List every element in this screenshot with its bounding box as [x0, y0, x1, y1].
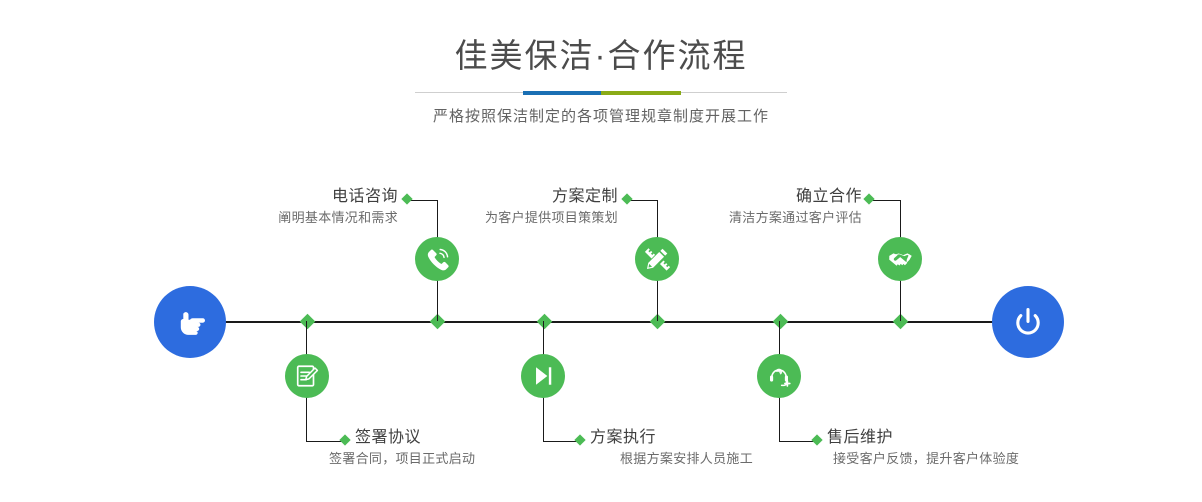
page-title: 佳美保洁·合作流程: [0, 34, 1202, 78]
page-header: 佳美保洁·合作流程 严格按照保洁制定的各项管理规章制度开展工作: [0, 34, 1202, 128]
divider-segment-blue: [523, 91, 601, 95]
document-sign-icon: [294, 363, 320, 389]
step-6-title: 售后维护: [827, 427, 1127, 449]
step-5-icon-badge[interactable]: [878, 237, 922, 281]
connector-step-4-horizontal: [543, 441, 579, 442]
pencil-ruler-icon: [644, 246, 670, 272]
title-divider: [415, 88, 787, 98]
pointing-hand-icon: [170, 302, 210, 342]
timeline-end-badge: [992, 286, 1064, 358]
step-3-desc: 为客户提供项目策策划: [350, 208, 618, 228]
divider-segment-green: [601, 91, 681, 95]
phone-call-icon: [424, 246, 451, 273]
step-5-title: 确立合作: [600, 186, 862, 208]
step-5-label: 确立合作 清洁方案通过客户评估: [600, 186, 862, 228]
step-6-desc: 接受客户反馈，提升客户体验度: [833, 449, 1127, 469]
flowchart-page: 佳美保洁·合作流程 严格按照保洁制定的各项管理规章制度开展工作: [0, 0, 1202, 502]
connector-step-2-horizontal: [306, 441, 344, 442]
step-2-icon-badge[interactable]: [285, 354, 329, 398]
axis-marker-5: [773, 314, 789, 330]
step-1-icon-badge[interactable]: [415, 237, 459, 281]
step-6-icon-badge[interactable]: [757, 354, 801, 398]
step-3-label: 方案定制 为客户提供项目策策划: [350, 186, 618, 228]
label-marker-step-2: [339, 434, 350, 445]
axis-marker-1: [300, 314, 316, 330]
connector-step-5-horizontal: [872, 200, 901, 201]
label-marker-step-5: [863, 193, 874, 204]
timeline-start-badge: [154, 286, 226, 358]
step-5-desc: 清洁方案通过客户评估: [600, 208, 862, 228]
connector-step-6-horizontal: [779, 441, 816, 442]
step-4-icon-badge[interactable]: [521, 354, 565, 398]
customer-support-add-icon: [766, 363, 792, 389]
page-subtitle: 严格按照保洁制定的各项管理规章制度开展工作: [0, 106, 1202, 128]
play-execute-icon: [530, 363, 556, 389]
axis-marker-3: [537, 314, 553, 330]
step-6-label: 售后维护 接受客户反馈，提升客户体验度: [827, 427, 1127, 469]
step-3-icon-badge[interactable]: [635, 237, 679, 281]
power-icon: [1008, 302, 1048, 342]
handshake-icon: [887, 246, 914, 273]
step-3-title: 方案定制: [350, 186, 618, 208]
timeline-axis: [155, 321, 1057, 323]
